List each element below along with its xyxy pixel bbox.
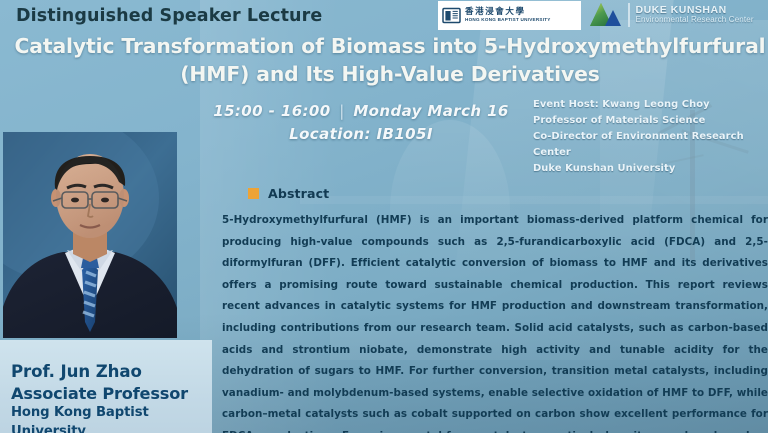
event-host-block: Event Host: Kwang Leong Choy Professor o… <box>533 97 768 177</box>
host-line-3: Co-Director of Environment Research Cent… <box>533 129 768 161</box>
host-line-4: Duke Kunshan University <box>533 161 768 177</box>
title-line-2: (HMF) and Its High-Value Derivatives <box>14 61 766 89</box>
abstract-label: Abstract <box>268 186 329 201</box>
speaker-affiliation: Hong Kong Baptist University <box>11 404 211 433</box>
duke-logo-line2: Environmental Research Center <box>636 16 754 25</box>
host-line-1: Event Host: Kwang Leong Choy <box>533 97 768 113</box>
host-line-2: Professor of Materials Science <box>533 113 768 129</box>
abstract-text: 5-Hydroxymethylfurfural (HMF) is an impo… <box>222 210 768 433</box>
logo-divider <box>628 3 630 27</box>
mountain-peaks-icon <box>588 2 622 28</box>
schedule-separator: | <box>336 102 347 120</box>
lecture-poster: 香港浸會大學 HONG KONG BAPTIST UNIVERSITY <box>0 0 768 433</box>
speaker-name: Prof. Jun Zhao <box>11 361 211 383</box>
schedule-time: 15:00 - 16:00 <box>213 102 330 120</box>
hkbu-logo: 香港浸會大學 HONG KONG BAPTIST UNIVERSITY <box>438 1 581 30</box>
open-book-icon <box>442 6 461 25</box>
page-title: Catalytic Transformation of Biomass into… <box>14 33 766 88</box>
duke-logo-text: DUKE KUNSHAN Environmental Research Cent… <box>636 5 754 26</box>
speaker-photo <box>3 132 177 338</box>
schedule-location: Location: IB105I <box>196 123 526 146</box>
duke-kunshan-logo: DUKE KUNSHAN Environmental Research Cent… <box>588 2 754 28</box>
schedule-time-date: 15:00 - 16:00 | Monday March 16 <box>196 100 526 123</box>
hkbu-english-name: HONG KONG BAPTIST UNIVERSITY <box>465 18 551 23</box>
abstract-heading: Abstract <box>248 186 329 201</box>
speaker-title: Associate Professor <box>11 383 211 404</box>
square-bullet-icon <box>248 188 259 199</box>
hkbu-logo-text: 香港浸會大學 HONG KONG BAPTIST UNIVERSITY <box>465 8 551 23</box>
schedule-date: Monday March 16 <box>353 102 508 120</box>
hkbu-chinese-name: 香港浸會大學 <box>465 8 551 17</box>
schedule-block: 15:00 - 16:00 | Monday March 16 Location… <box>196 100 526 145</box>
speaker-details: Prof. Jun Zhao Associate Professor Hong … <box>11 361 211 433</box>
series-kicker: Distinguished Speaker Lecture <box>16 6 322 26</box>
title-line-1: Catalytic Transformation of Biomass into… <box>14 33 766 61</box>
background-band-upper <box>300 196 768 204</box>
